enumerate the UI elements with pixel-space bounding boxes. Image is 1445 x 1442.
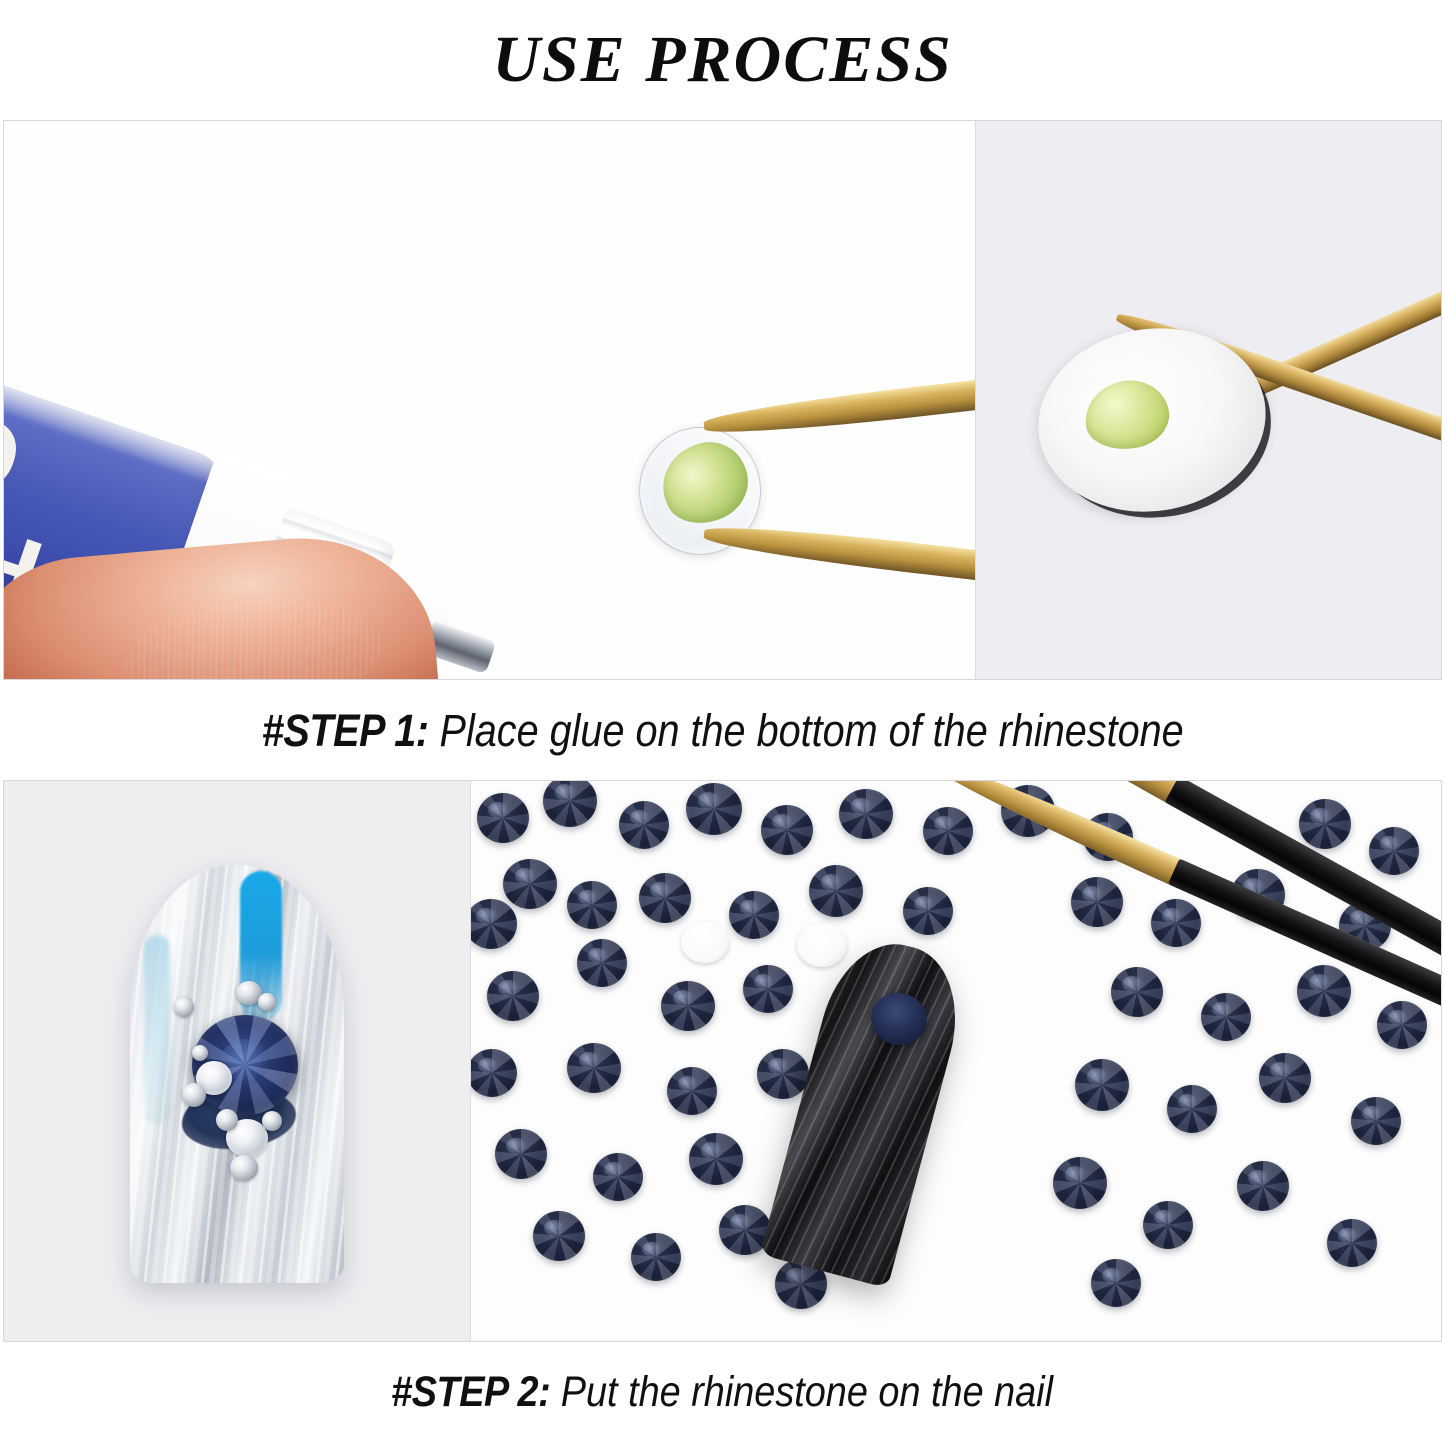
rhinestone (1369, 827, 1419, 875)
rhinestone (470, 899, 517, 949)
rhinestone (661, 981, 715, 1031)
glue-label-letter-top: G (4, 399, 31, 503)
rhinestone (1143, 1201, 1193, 1249)
placing-rhinestone-on-nail-photo (470, 781, 1441, 1341)
tweezers-gold-tip (702, 348, 975, 441)
rhinestone (1053, 1157, 1107, 1209)
rhinestone (543, 781, 597, 827)
rhinestone (1167, 1085, 1217, 1133)
finished-nail-photo (4, 781, 470, 1341)
step-2-image-row (3, 780, 1442, 1342)
rhinestone (567, 881, 617, 929)
tweezers-lower-arm (702, 519, 975, 612)
tweezers-upper-arm (702, 348, 975, 441)
step-2-label: #STEP 2: (392, 1368, 551, 1416)
rhinestone (1201, 993, 1251, 1041)
rhinestone (729, 891, 779, 939)
glue-applied-to-rhinestone-photo: G Rh (4, 121, 975, 679)
rhinestone-flat-back (1025, 312, 1279, 527)
page-title: USE PROCESS (492, 27, 952, 93)
silver-bead (182, 1083, 206, 1107)
step-1-label: #STEP 1: (262, 705, 429, 756)
rhinestone (1377, 1001, 1427, 1049)
rhinestone (577, 939, 627, 987)
rhinestone (533, 1211, 585, 1261)
rhinestone (839, 789, 893, 839)
rhinestone (1297, 965, 1351, 1017)
rhinestone (761, 805, 813, 855)
rhinestone (667, 1067, 717, 1115)
silver-bead (192, 1045, 208, 1061)
rhinestone (1071, 877, 1123, 927)
rhinestone (487, 971, 539, 1021)
rhinestone (1091, 1259, 1141, 1307)
tweezers-gold-tip (702, 519, 975, 612)
rhinestone (1299, 799, 1351, 849)
silver-bead (174, 997, 194, 1017)
rhinestone (619, 801, 669, 849)
blue-accent-stripe (144, 935, 170, 1125)
rhinestone (1111, 967, 1163, 1017)
rhinestone (1237, 1161, 1289, 1211)
rhinestone (923, 807, 973, 855)
glue-droplet (1080, 375, 1174, 455)
silver-bead (216, 1109, 238, 1131)
step-1-text: Place glue on the bottom of the rhinesto… (439, 705, 1183, 756)
step-2-text: Put the rhinestone on the nail (561, 1368, 1053, 1416)
rhinestone (593, 1153, 643, 1201)
silver-bead (262, 1111, 282, 1131)
rhinestone (631, 1233, 681, 1281)
step-2-caption: #STEP 2: Put the rhinestone on the nail (0, 1342, 1445, 1442)
rhinestone (757, 1049, 809, 1099)
rhinestone (1151, 899, 1201, 947)
rhinestone (1327, 1219, 1377, 1267)
rhinestone (903, 887, 953, 935)
rhinestone (743, 965, 793, 1013)
silver-chrome-press-on-nail (130, 865, 344, 1283)
silver-bead (230, 1155, 258, 1181)
rhinestone (809, 865, 863, 917)
rhinestone-flat-back (681, 921, 729, 963)
rhinestone (1259, 1053, 1311, 1103)
silver-bead (258, 993, 276, 1011)
rhinestone (470, 1049, 517, 1097)
rhinestone (639, 873, 691, 923)
rhinestone (1351, 1097, 1401, 1145)
step-1-caption: #STEP 1: Place glue on the bottom of the… (0, 680, 1445, 780)
step-1-image-row: G Rh (3, 120, 1442, 680)
rhinestone (477, 793, 529, 843)
rhinestone (495, 1129, 547, 1179)
rhinestone (686, 783, 742, 835)
page-header: USE PROCESS (0, 0, 1445, 120)
rhinestone (567, 1043, 621, 1093)
rhinestone (503, 859, 557, 909)
rhinestone (1075, 1059, 1129, 1111)
rhinestone-flat-back-closeup-photo (975, 121, 1441, 679)
rhinestone (689, 1133, 743, 1185)
